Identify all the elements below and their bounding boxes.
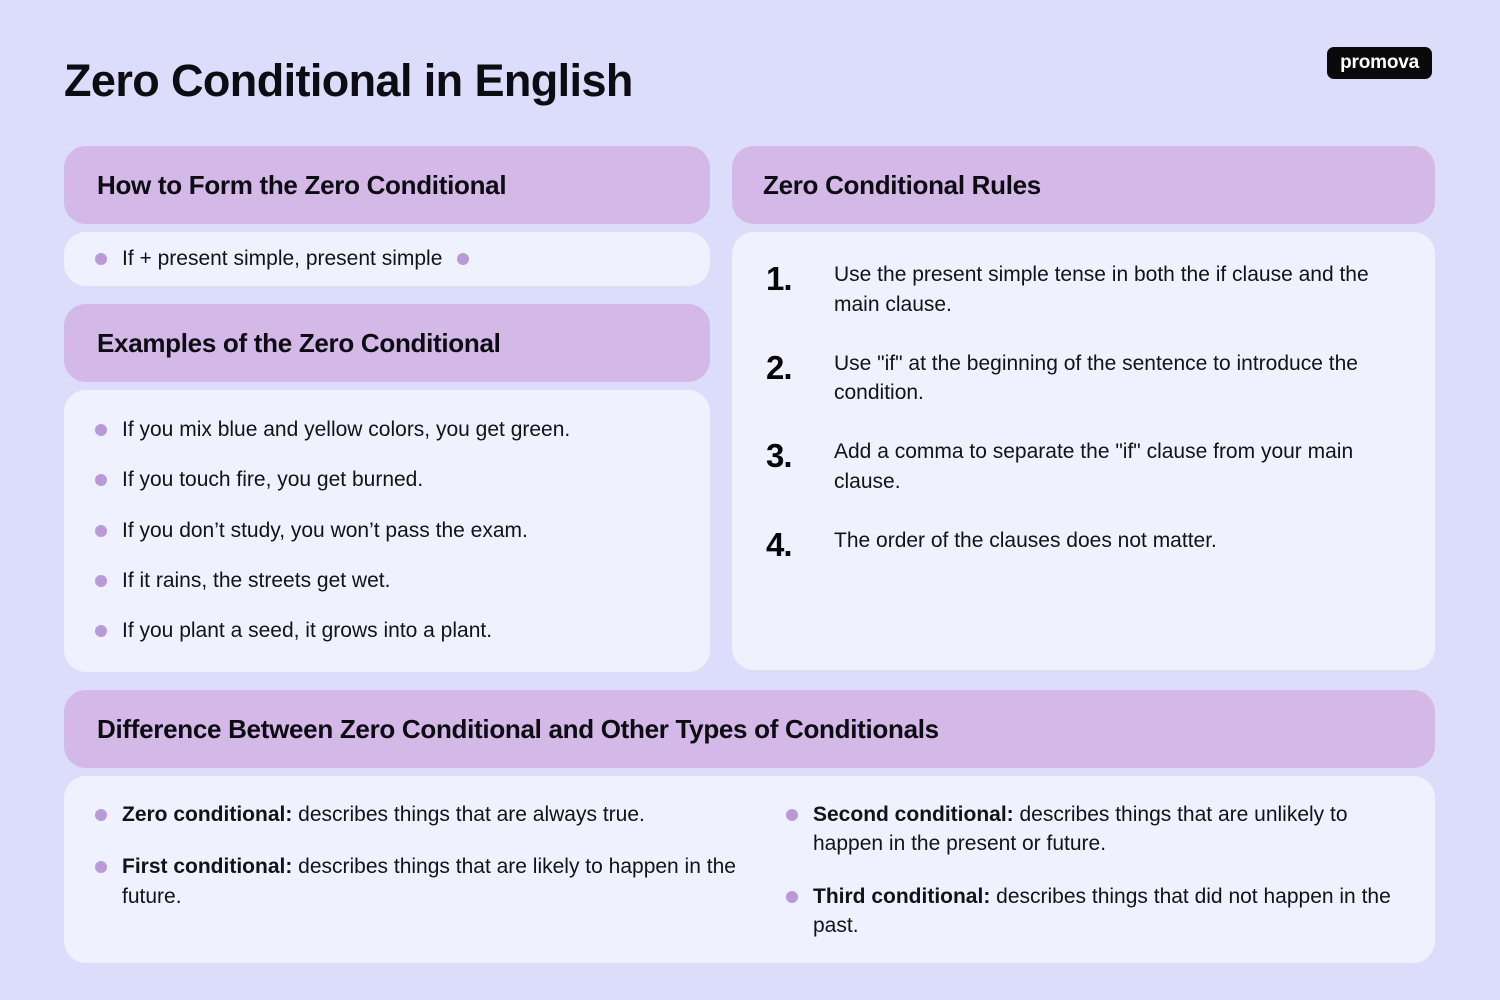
bullet-icon [95, 861, 107, 873]
example-text: If you touch fire, you get burned. [122, 466, 423, 494]
formula-row: If + present simple, present simple [95, 247, 469, 271]
formula-card: If + present simple, present simple [64, 232, 710, 286]
list-item: First conditional: describes things that… [95, 852, 750, 911]
difference-description: describes things that are always true. [292, 803, 645, 826]
bullet-icon [786, 891, 798, 903]
left-column: How to Form the Zero Conditional If + pr… [64, 146, 710, 672]
example-text: If you mix blue and yellow colors, you g… [122, 416, 570, 444]
difference-section: Difference Between Zero Conditional and … [64, 690, 1435, 963]
bullet-icon [95, 625, 107, 637]
rule-text: Add a comma to separate the "if" clause … [834, 437, 1401, 497]
list-item: If you plant a seed, it grows into a pla… [95, 617, 680, 645]
how-to-form-header: How to Form the Zero Conditional [64, 146, 710, 224]
difference-entry: Third conditional: describes things that… [813, 882, 1405, 941]
example-text: If you don’t study, you won’t pass the e… [122, 517, 528, 545]
list-item: 4. The order of the clauses does not mat… [766, 526, 1401, 561]
difference-right-column: Second conditional: describes things tha… [750, 800, 1405, 963]
bullet-icon [457, 253, 469, 265]
difference-label: Second conditional: [813, 803, 1014, 826]
list-item: 1. Use the present simple tense in both … [766, 260, 1401, 320]
how-to-form-heading: How to Form the Zero Conditional [97, 170, 506, 201]
bullet-icon [786, 809, 798, 821]
difference-entry: First conditional: describes things that… [122, 852, 750, 911]
difference-card: Zero conditional: describes things that … [64, 776, 1435, 963]
difference-label: Zero conditional: [122, 803, 292, 826]
difference-label: First conditional: [122, 855, 292, 878]
list-item: Second conditional: describes things tha… [786, 800, 1405, 859]
examples-heading: Examples of the Zero Conditional [97, 328, 501, 359]
bullet-icon [95, 253, 107, 265]
rule-number: 1. [766, 260, 834, 295]
rule-text: Use the present simple tense in both the… [834, 260, 1401, 320]
rule-number: 2. [766, 349, 834, 384]
difference-left-column: Zero conditional: describes things that … [95, 800, 750, 963]
right-column: Zero Conditional Rules 1. Use the presen… [732, 146, 1435, 670]
rules-header: Zero Conditional Rules [732, 146, 1435, 224]
page-header: Zero Conditional in English promova [0, 0, 1500, 140]
list-item: If you mix blue and yellow colors, you g… [95, 416, 680, 444]
bullet-icon [95, 424, 107, 436]
promova-logo-text: promova [1340, 53, 1419, 72]
rule-text: Use "if" at the beginning of the sentenc… [834, 349, 1401, 409]
difference-header: Difference Between Zero Conditional and … [64, 690, 1435, 768]
rule-text: The order of the clauses does not matter… [834, 526, 1217, 556]
list-item: If you don’t study, you won’t pass the e… [95, 517, 680, 545]
example-text: If it rains, the streets get wet. [122, 567, 390, 595]
examples-card: If you mix blue and yellow colors, you g… [64, 390, 710, 672]
difference-entry: Second conditional: describes things tha… [813, 800, 1405, 859]
list-item: Zero conditional: describes things that … [95, 800, 750, 829]
list-item: If you touch fire, you get burned. [95, 466, 680, 494]
example-text: If you plant a seed, it grows into a pla… [122, 617, 492, 645]
list-item: Third conditional: describes things that… [786, 882, 1405, 941]
rules-heading: Zero Conditional Rules [763, 170, 1041, 201]
list-item: If it rains, the streets get wet. [95, 567, 680, 595]
page-title: Zero Conditional in English [64, 55, 633, 107]
rule-number: 3. [766, 437, 834, 472]
bullet-icon [95, 525, 107, 537]
rules-card: 1. Use the present simple tense in both … [732, 232, 1435, 670]
examples-header: Examples of the Zero Conditional [64, 304, 710, 382]
formula-text: If + present simple, present simple [122, 247, 442, 271]
difference-label: Third conditional: [813, 885, 990, 908]
bullet-icon [95, 474, 107, 486]
bullet-icon [95, 575, 107, 587]
bullet-icon [95, 809, 107, 821]
difference-entry: Zero conditional: describes things that … [122, 800, 645, 829]
difference-heading: Difference Between Zero Conditional and … [97, 714, 939, 745]
rule-number: 4. [766, 526, 834, 561]
list-item: 2. Use "if" at the beginning of the sent… [766, 349, 1401, 409]
list-item: 3. Add a comma to separate the "if" clau… [766, 437, 1401, 497]
promova-logo: promova [1327, 47, 1432, 79]
